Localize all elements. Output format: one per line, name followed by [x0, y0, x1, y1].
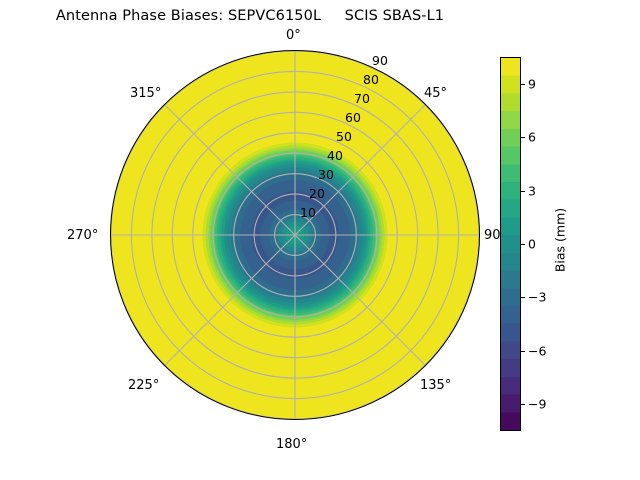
- radial-label-20: 20: [309, 186, 325, 201]
- colorbar-gradient: [500, 57, 521, 431]
- colorbar-tick-label: −9: [528, 397, 546, 412]
- colorbar-tick-mark: [521, 297, 525, 298]
- colorbar-tick-label: −3: [528, 290, 546, 305]
- angular-label-135: 135°: [420, 378, 451, 393]
- radial-label-60: 60: [345, 110, 361, 125]
- colorbar: 9630−3−6−9: [500, 57, 521, 431]
- angular-label-225: 225°: [128, 378, 159, 393]
- colorbar-tick-mark: [521, 244, 525, 245]
- bias-field: [110, 50, 480, 420]
- angular-label-90: 90: [484, 228, 501, 243]
- polar-plot: [110, 50, 480, 420]
- angular-label-0: 0°: [286, 28, 301, 43]
- page-title: Antenna Phase Biases: SEPVC6150L SCIS SB…: [0, 8, 500, 24]
- colorbar-tick-label: 3: [528, 183, 536, 198]
- colorbar-label: Bias (mm): [553, 208, 568, 272]
- polar-data-disc: [110, 50, 480, 420]
- radial-label-40: 40: [327, 148, 343, 163]
- colorbar-tick-mark: [521, 84, 525, 85]
- colorbar-tick-mark: [521, 191, 525, 192]
- figure-canvas: Antenna Phase Biases: SEPVC6150L SCIS SB…: [0, 0, 640, 480]
- angular-label-315: 315°: [130, 86, 161, 101]
- radial-label-90: 90: [372, 53, 388, 68]
- colorbar-tick-mark: [521, 351, 525, 352]
- colorbar-tick-label: 0: [528, 237, 536, 252]
- radial-label-80: 80: [363, 72, 379, 87]
- colorbar-tick-mark: [521, 137, 525, 138]
- radial-label-30: 30: [318, 167, 334, 182]
- angular-label-45: 45°: [424, 86, 447, 101]
- angular-label-180: 180°: [276, 437, 307, 452]
- radial-label-70: 70: [354, 91, 370, 106]
- radial-label-10: 10: [300, 205, 316, 220]
- colorbar-tick-label: −6: [528, 343, 546, 358]
- angular-label-270: 270°: [67, 228, 98, 243]
- radial-label-50: 50: [336, 129, 352, 144]
- colorbar-tick-label: 9: [528, 76, 536, 91]
- colorbar-tick-label: 6: [528, 130, 536, 145]
- colorbar-tick-mark: [521, 404, 525, 405]
